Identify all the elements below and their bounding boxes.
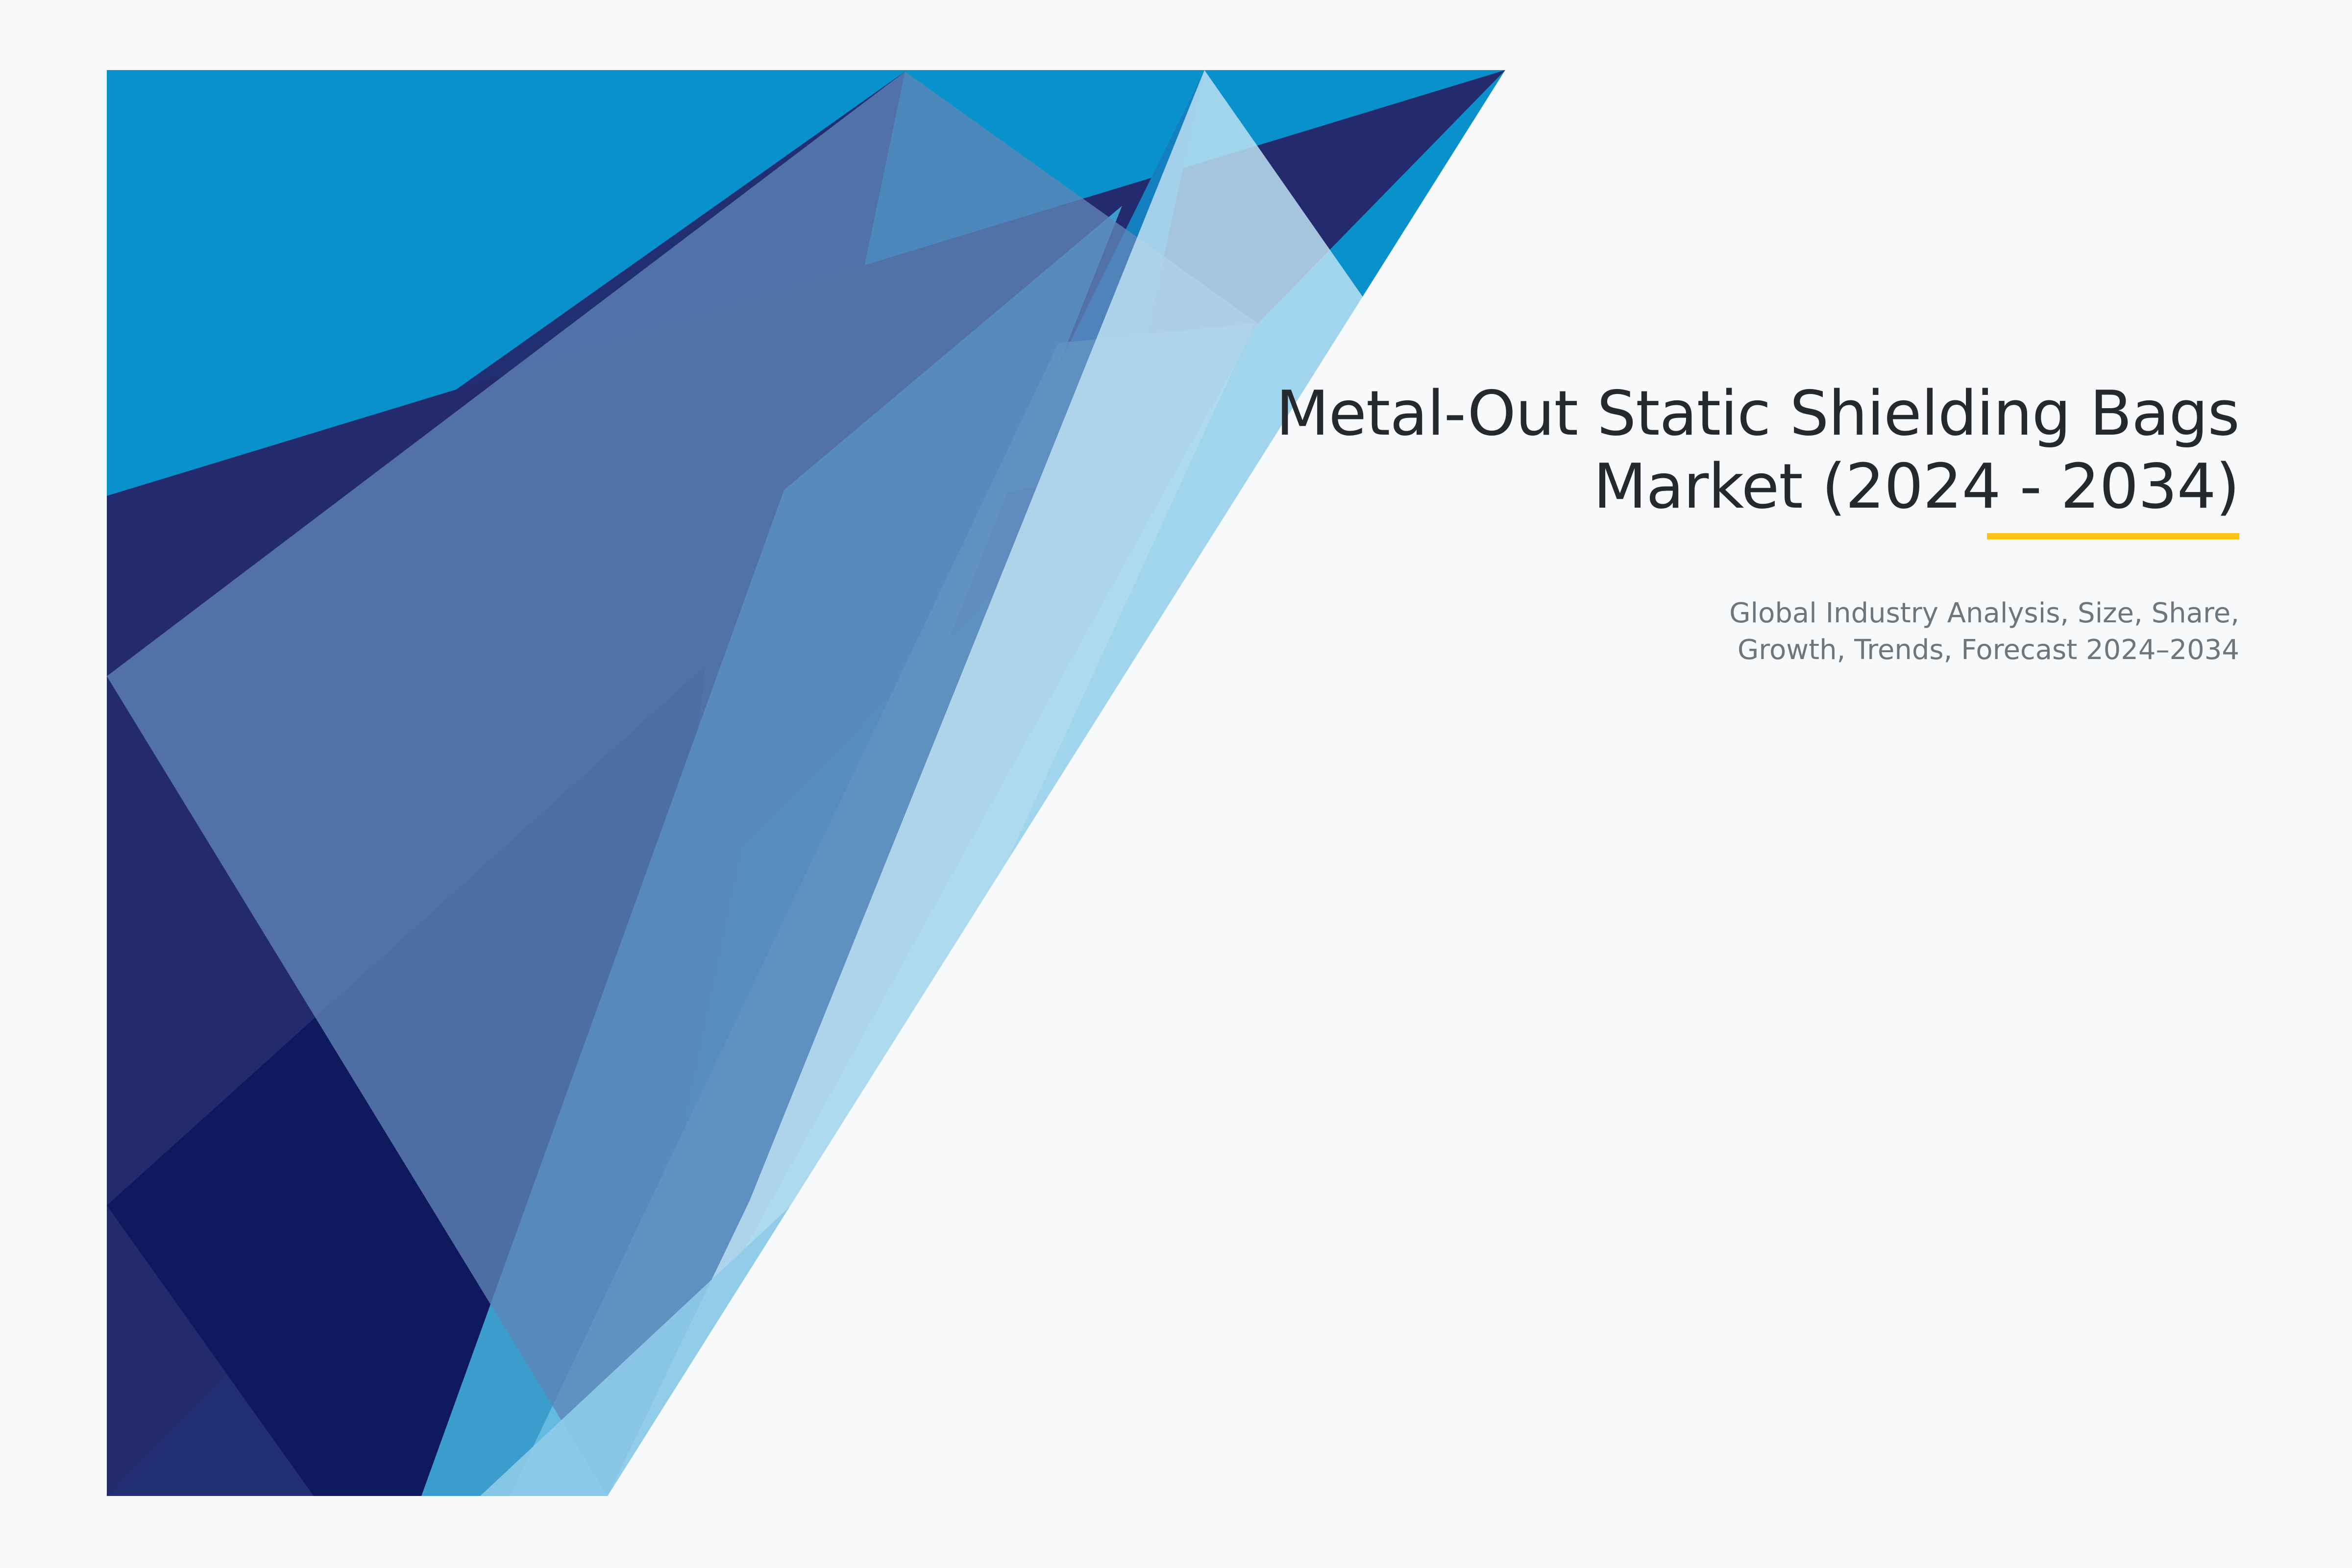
page-subtitle: Global Industry Analysis, Size, Share, G… — [980, 523, 2239, 668]
mask-bottom — [0, 1496, 2352, 1568]
mask-left — [0, 0, 107, 1568]
mask-top — [0, 0, 2352, 70]
cover-page: Metal-Out Static Shielding Bags Market (… — [0, 0, 2352, 1568]
cover-text-block: Metal-Out Static Shielding Bags Market (… — [980, 377, 2239, 668]
title-wrapper: Metal-Out Static Shielding Bags Market (… — [980, 377, 2239, 523]
title-accent-underline — [1987, 533, 2239, 539]
abstract-polygon-graphic — [0, 0, 2352, 1568]
page-title: Metal-Out Static Shielding Bags Market (… — [980, 377, 2239, 523]
